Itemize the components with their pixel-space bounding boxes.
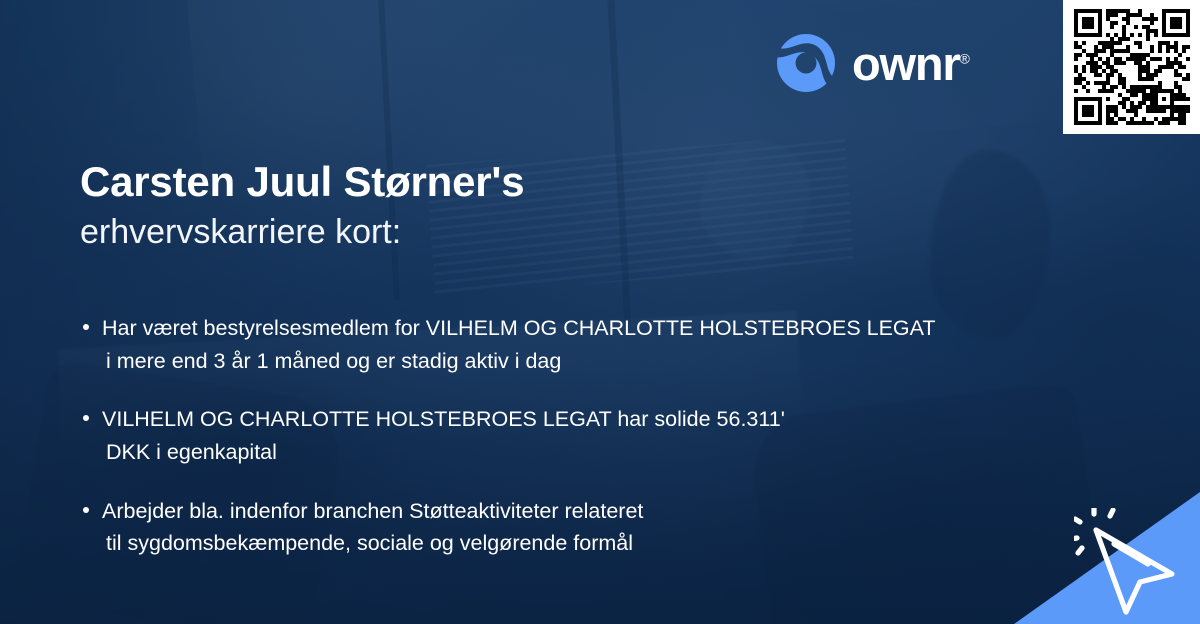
page-subtitle: erhvervskarriere kort: [80, 211, 1080, 253]
headline-block: Carsten Juul Størner's erhvervskarriere … [80, 158, 1080, 253]
list-item: Arbejder bla. indenfor branchen Støtteak… [80, 495, 1170, 560]
card-content: ownr® Carsten Juul Størner's erhvervskar… [0, 0, 1200, 624]
accent-corner [1014, 492, 1200, 624]
ownr-logo: ownr® [776, 33, 970, 93]
list-item-line-2: til sygdomsbekæmpende, sociale og velgør… [102, 527, 1170, 560]
ownr-circle-swoosh-icon [776, 33, 836, 93]
list-item-line-1: Arbejder bla. indenfor branchen Støtteak… [102, 499, 643, 523]
qr-code-panel[interactable] [1063, 0, 1200, 134]
bullet-dot-icon [83, 415, 89, 421]
career-summary-list: Har været bestyrelsesmedlem for VILHELM … [80, 312, 1170, 560]
registered-trademark-mark: ® [959, 50, 969, 66]
list-item-line-2: DKK i egenkapital [102, 436, 1170, 469]
bullet-dot-icon [83, 324, 89, 330]
list-item-line-1: Har været bestyrelsesmedlem for VILHELM … [102, 316, 936, 340]
ownr-wordmark-text: ownr [852, 37, 959, 90]
qr-code[interactable] [1074, 9, 1190, 125]
list-item: Har været bestyrelsesmedlem for VILHELM … [80, 312, 1170, 377]
list-item-line-2: i mere end 3 år 1 måned og er stadig akt… [102, 345, 1170, 378]
ownr-wordmark: ownr® [852, 40, 970, 87]
list-item-line-1: VILHELM OG CHARLOTTE HOLSTEBROES LEGAT h… [102, 407, 785, 431]
bullet-dot-icon [83, 507, 89, 513]
business-card-graphic: ownr® Carsten Juul Størner's erhvervskar… [0, 0, 1200, 624]
page-title: Carsten Juul Størner's [80, 158, 1080, 205]
click-cursor-icon [1074, 508, 1190, 616]
list-item: VILHELM OG CHARLOTTE HOLSTEBROES LEGAT h… [80, 403, 1170, 468]
